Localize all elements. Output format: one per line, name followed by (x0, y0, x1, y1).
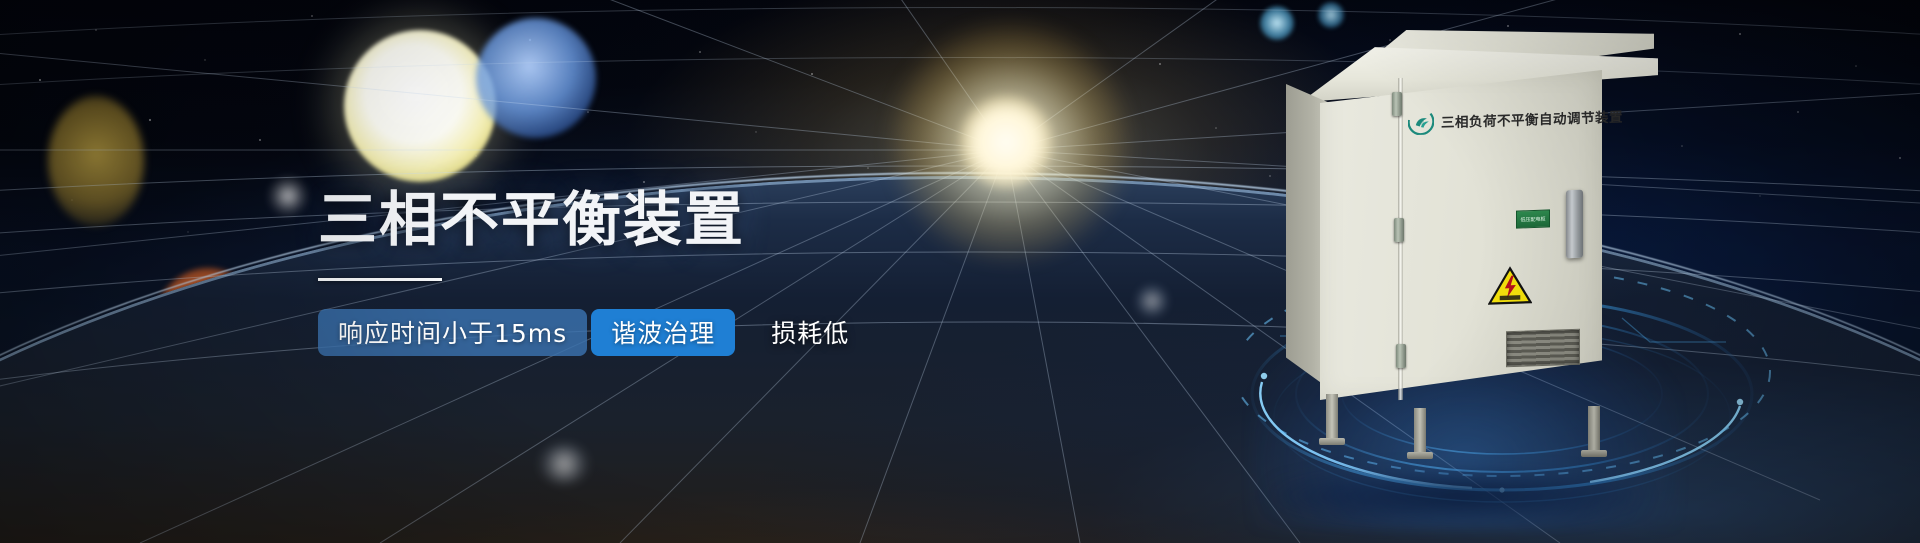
product-cabinet: 三相负荷不平衡自动调节装置 低压配电柜 (1280, 22, 1700, 502)
cabinet-green-sticker-text: 低压配电柜 (1520, 215, 1545, 223)
title-divider (318, 278, 442, 281)
feature-badge-response-time[interactable]: 响应时间小于15ms (318, 309, 587, 356)
lens-flare-left (268, 176, 308, 216)
cabinet-label-text: 三相负荷不平衡自动调节装置 (1441, 106, 1623, 132)
cabinet-foot-pad-left (1319, 438, 1345, 445)
hero-copy-block: 三相不平衡装置 响应时间小于15ms 谐波治理 损耗低 (318, 188, 1078, 356)
cabinet-hinge-middle (1394, 218, 1404, 242)
cabinet-hinge-lower (1396, 344, 1406, 368)
lens-flare-lower (538, 444, 590, 484)
cabinet-foot-pad-center (1407, 452, 1433, 459)
cabinet-foot-center (1414, 408, 1426, 454)
page-title: 三相不平衡装置 (318, 188, 1078, 252)
warning-sticker (1488, 265, 1532, 307)
hero-banner: 三相负荷不平衡自动调节装置 低压配电柜 三相 (0, 0, 1920, 543)
cabinet-feet (1320, 382, 1620, 494)
bokeh-blue-light (476, 18, 596, 138)
feature-badge-low-loss[interactable]: 损耗低 (751, 309, 869, 356)
bokeh-gold-light (48, 96, 144, 226)
cabinet-hinge-upper (1392, 92, 1402, 116)
swirl-leaf-logo-icon (1408, 108, 1434, 135)
lightning-bolt-icon (1488, 265, 1532, 307)
sun-hotspot (960, 96, 1052, 188)
cabinet-foot-pad-right (1581, 450, 1607, 457)
lens-flare-center (1135, 284, 1169, 318)
feature-badge-list: 响应时间小于15ms 谐波治理 损耗低 (318, 309, 1078, 356)
bokeh-yellow-white-light (344, 30, 496, 182)
cabinet-foot-left (1326, 394, 1338, 440)
cabinet-green-sticker: 低压配电柜 (1516, 209, 1550, 228)
feature-badge-harmonic-control[interactable]: 谐波治理 (591, 309, 735, 356)
cabinet-foot-right (1588, 406, 1600, 452)
ventilation-louver-icon (1506, 329, 1580, 368)
door-handle-icon (1566, 190, 1583, 259)
